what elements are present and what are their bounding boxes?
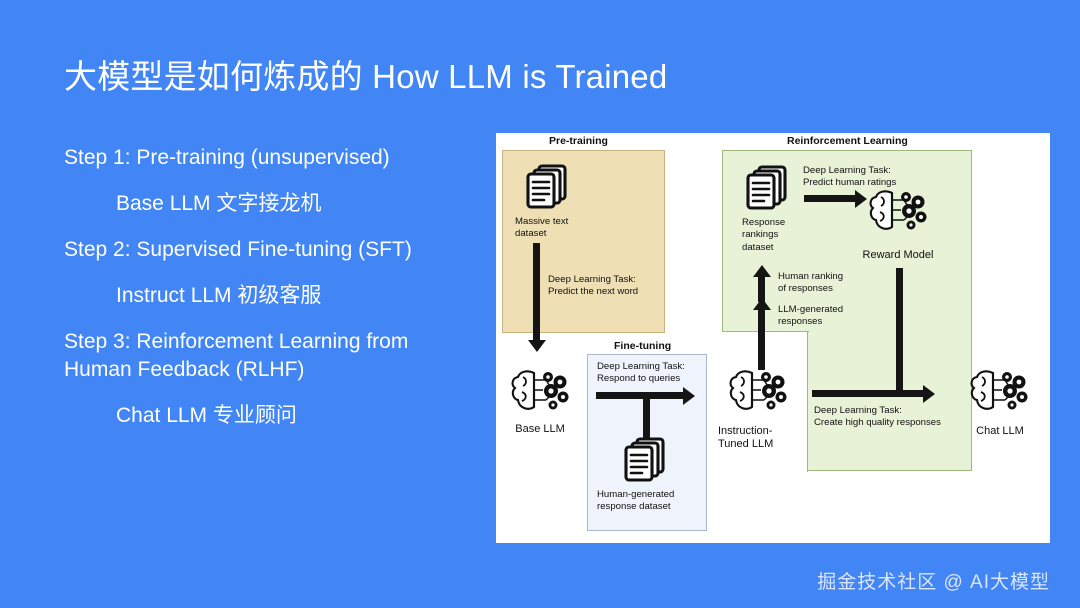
finetuning-task-label: Deep Learning Task: Respond to queries	[597, 361, 685, 386]
pretraining-section-title: Pre-training	[549, 135, 608, 147]
step-2-subtitle: Instruct LLM 初级客服	[64, 282, 469, 310]
brain-gears-icon	[728, 368, 788, 418]
step-3-heading: Step 3: Reinforcement Learning from Huma…	[64, 328, 469, 384]
brain-gears-icon	[868, 188, 928, 238]
document-stack-icon	[742, 163, 792, 213]
reinforcement-bottom-task-label: Deep Learning Task: Create high quality …	[814, 405, 941, 430]
llm-generated-up-arrow	[758, 309, 765, 370]
pretraining-task-label: Deep Learning Task: Predict the next wor…	[548, 274, 638, 299]
brain-gears-icon	[969, 368, 1029, 418]
reward-model-label: Reward Model	[848, 249, 948, 262]
reinforcement-section-title: Reinforcement Learning	[787, 135, 908, 147]
document-stack-icon	[522, 162, 572, 212]
create-responses-right-arrow	[812, 390, 924, 397]
instruction-tuned-llm-label: Instruction- Tuned LLM	[718, 425, 808, 451]
brain-gears-icon	[510, 368, 570, 418]
reinforcement-top-task-label: Deep Learning Task: Predict human rating…	[803, 165, 896, 190]
human-generated-response-dataset-label: Human-generated response dataset	[597, 489, 674, 514]
massive-text-dataset-label: Massive text dataset	[515, 216, 568, 241]
finetuning-section-title: Fine-tuning	[614, 340, 671, 352]
finetuning-right-arrow	[596, 392, 684, 399]
reinforcement-top-right-arrow	[804, 195, 856, 202]
step-3-subtitle: Chat LLM 专业顾问	[64, 402, 469, 430]
human-ranking-label: Human ranking of responses	[778, 271, 843, 296]
base-llm-label: Base LLM	[501, 423, 579, 436]
reinforcement-learning-notch-edge	[722, 331, 809, 332]
llm-generated-label: LLM-generated responses	[778, 304, 843, 329]
reward-model-stem	[896, 268, 903, 393]
page-title: 大模型是如何炼成的 How LLM is Trained	[64, 50, 667, 98]
document-stack-icon	[620, 435, 670, 485]
finetuning-stem	[643, 395, 650, 439]
chat-llm-label: Chat LLM	[959, 425, 1041, 438]
response-rankings-dataset-label: Response rankings dataset	[742, 217, 785, 254]
pretraining-down-arrow	[533, 243, 540, 341]
step-1-heading: Step 1: Pre-training (unsupervised)	[64, 144, 469, 172]
watermark-text: 掘金技术社区 @ AI大模型	[817, 567, 1050, 594]
step-2-heading: Step 2: Supervised Fine-tuning (SFT)	[64, 236, 469, 264]
steps-list: Step 1: Pre-training (unsupervised) Base…	[64, 144, 469, 429]
llm-training-diagram: Pre-training Fine-tuning Reinforcement L…	[496, 133, 1050, 543]
step-1-subtitle: Base LLM 文字接龙机	[64, 190, 469, 218]
